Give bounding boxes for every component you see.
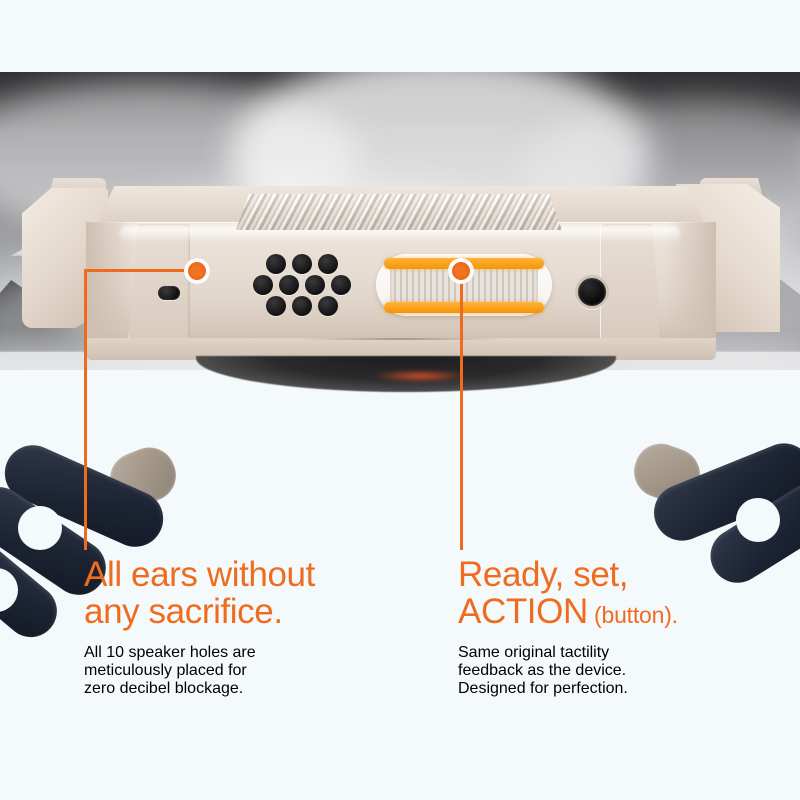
sensor-glow xyxy=(372,370,468,382)
action-body-line-2: feedback as the device. xyxy=(458,662,788,680)
speaker-hole xyxy=(292,296,312,316)
action-headline: Ready, set, ACTION (button). xyxy=(458,556,788,630)
knurled-band-shading xyxy=(236,194,562,230)
speaker-hole xyxy=(279,275,299,295)
callout-line-action-vertical xyxy=(460,269,463,550)
action-button-marker[interactable] xyxy=(448,258,474,284)
speaker-headline-line-2: any sacrifice. xyxy=(84,592,283,631)
oval-sensor xyxy=(158,286,180,300)
speaker-hole xyxy=(331,275,351,295)
action-headline-line-2: ACTION xyxy=(458,592,588,631)
speaker-headline: All ears without any sacrifice. xyxy=(84,556,414,630)
action-headline-suffix: (button). xyxy=(588,602,678,628)
speaker-holes-marker[interactable] xyxy=(184,258,210,284)
action-body-line-3: Designed for perfection. xyxy=(458,680,788,698)
rugged-smartwatch-case xyxy=(0,178,800,410)
speaker-hole xyxy=(305,275,325,295)
callout-line-speaker-horizontal xyxy=(84,269,196,272)
speaker-hole xyxy=(266,254,286,274)
strap-hole-right-1 xyxy=(736,498,780,542)
callout-line-speaker-vertical xyxy=(84,269,87,550)
microphone-port xyxy=(575,275,609,309)
speaker-body-line-2: meticulously placed for xyxy=(84,662,414,680)
speaker-hole xyxy=(253,275,273,295)
action-body-line-1: Same original tactility xyxy=(458,644,788,662)
action-button-accent-bar-bottom xyxy=(384,302,544,313)
feature-block-action-button: Ready, set, ACTION (button). Same origin… xyxy=(458,556,788,714)
speaker-body-line-1: All 10 speaker holes are xyxy=(84,644,414,662)
speaker-hole xyxy=(292,254,312,274)
speaker-hole xyxy=(318,254,338,274)
feature-block-speaker: All ears without any sacrifice. All 10 s… xyxy=(84,556,414,714)
speaker-hole-grille xyxy=(252,254,362,316)
case-seam-line xyxy=(300,338,500,340)
speaker-body-line-3: zero decibel blockage. xyxy=(84,680,414,698)
action-headline-line-1: Ready, set, xyxy=(458,555,628,594)
strap-hole-left-1 xyxy=(18,506,62,550)
product-feature-graphic: All ears without any sacrifice. All 10 s… xyxy=(0,0,800,800)
speaker-hole xyxy=(266,296,286,316)
speaker-headline-line-1: All ears without xyxy=(84,555,315,594)
speaker-hole xyxy=(318,296,338,316)
